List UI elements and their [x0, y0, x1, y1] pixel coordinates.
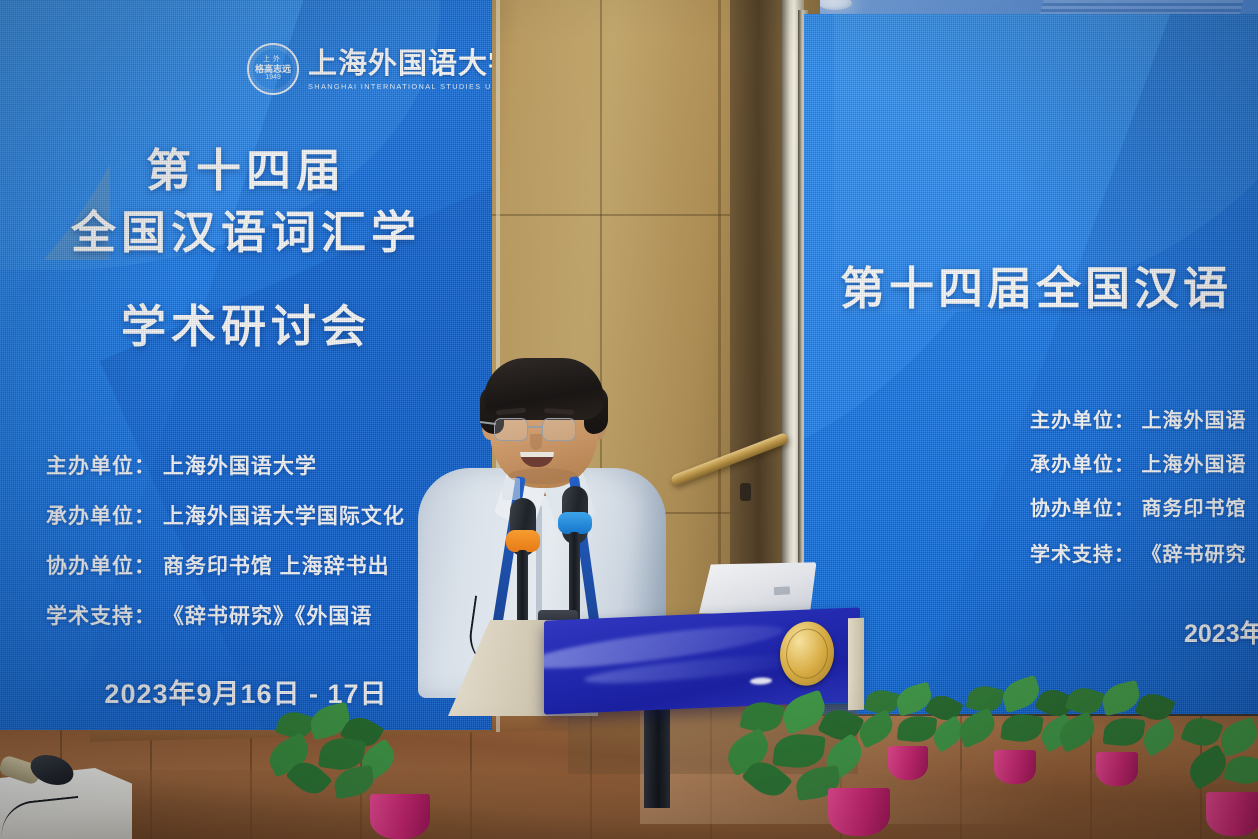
conference-title-right: 第十四届全国汉语: [840, 252, 1232, 317]
university-name-en: SHANGHAI INTERNATIONAL STUDIES UNIVERSIT…: [308, 82, 492, 91]
conference-title-line-2: 全国汉语词汇学: [0, 208, 492, 258]
nose: [530, 434, 542, 450]
co-organizer-line-right: 协办单位： 商务印书馆: [1030, 492, 1247, 521]
microphone-windscreen-blue: [558, 512, 592, 534]
university-seal-icon: 上外 格高志远 1949: [247, 43, 299, 95]
led-screen-right: 第十四届全国汉语 主办单位： 上海外国语 承办单位： 上海外国语 协办单位： 商…: [804, 14, 1258, 714]
plant-pot: [370, 794, 430, 839]
co-organizer-line: 协办单位： 商务印书馆 上海辞书出: [46, 550, 390, 580]
plant-pot: [994, 750, 1036, 784]
seal-motto-text: 格高志远: [255, 64, 291, 74]
conference-title-line-3: 学术研讨会: [0, 302, 492, 352]
host-line: 承办单位： 上海外国语大学国际文化: [46, 500, 405, 530]
university-name-cn: 上海外国语大学: [308, 48, 492, 79]
seal-top-text: 上外: [263, 56, 283, 64]
plant-pot: [888, 746, 928, 780]
plant-pot: [828, 788, 890, 836]
podium-leg: [644, 700, 670, 808]
microphone-head: [27, 750, 77, 790]
conference-date-right: 2023年: [1184, 614, 1258, 650]
organizer-line-right: 主办单位： 上海外国语: [1030, 404, 1247, 433]
host-line-right: 承办单位： 上海外国语: [1030, 448, 1247, 477]
handrail-bracket: [740, 483, 751, 501]
university-logo: 上外 格高志远 1949 上海外国语大学 SHANGHAI INTERNATIO…: [247, 34, 492, 104]
seal-year-text: 1949: [265, 74, 281, 82]
plant-pot: [1206, 792, 1258, 836]
academic-support-line: 学术支持： 《辞书研究》《外国语: [46, 600, 372, 630]
microphone-windscreen-orange: [506, 530, 540, 552]
conference-title-line-1: 第十四届: [0, 146, 492, 196]
university-wordmark: 上海外国语大学 SHANGHAI INTERNATIONAL STUDIES U…: [308, 48, 492, 91]
wall-seam: [470, 214, 770, 216]
organizer-line: 主办单位： 上海外国语大学: [46, 450, 317, 480]
academic-support-line-right: 学术支持： 《辞书研究: [1030, 538, 1247, 567]
plant-pot: [1096, 752, 1138, 786]
handheld-microphone: [0, 756, 96, 786]
podium-emblem-ring: [786, 628, 828, 680]
eyeglasses-bridge: [528, 426, 542, 428]
lanyard-badge: [502, 478, 520, 500]
conference-photo: 上外 格高志远 1949 上海外国语大学 SHANGHAI INTERNATIO…: [0, 0, 1258, 839]
podium-gold-emblem: [780, 620, 834, 686]
podium-highlight: [750, 677, 772, 685]
eyeglasses-lens-right: [542, 418, 576, 441]
laptop-logo: [774, 586, 790, 595]
eyeglasses-lens-left: [494, 418, 528, 441]
